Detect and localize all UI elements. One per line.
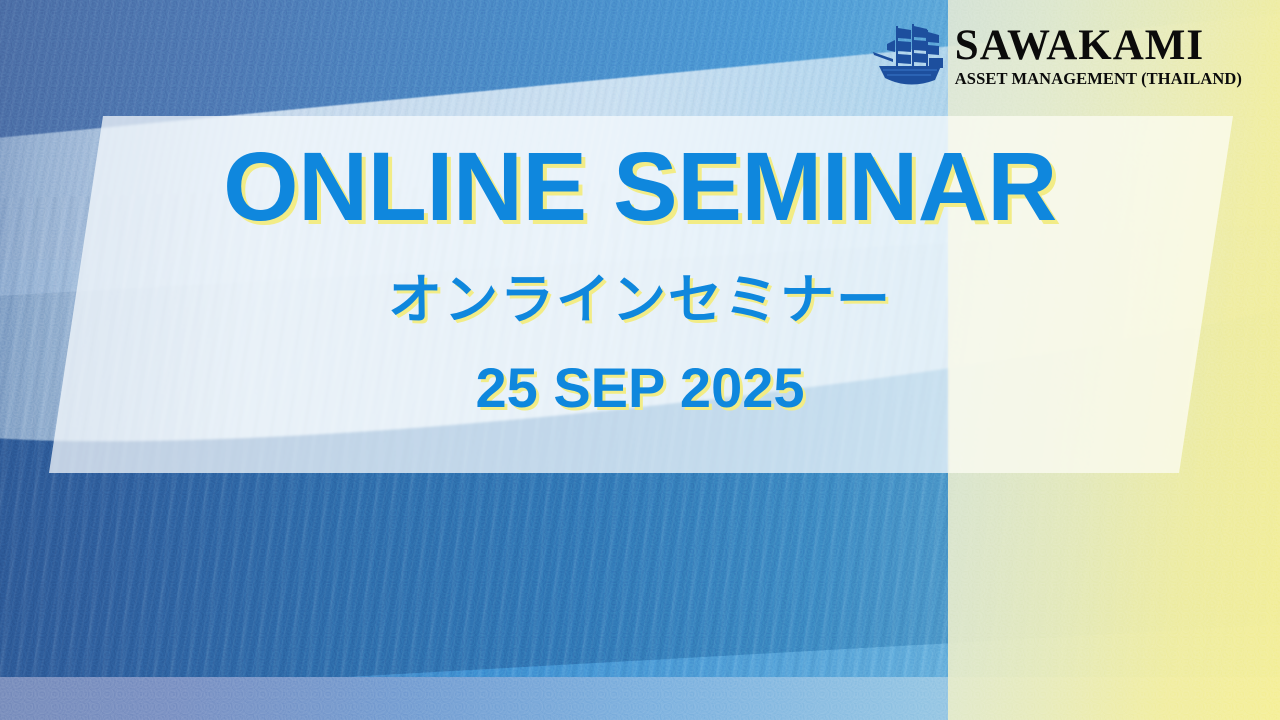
company-logo: SAWAKAMI ASSET MANAGEMENT (THAILAND) bbox=[871, 22, 1242, 92]
headline-title: ONLINE SEMINAR bbox=[223, 138, 1057, 235]
logo-wordmark: SAWAKAMI ASSET MANAGEMENT (THAILAND) bbox=[955, 25, 1242, 88]
headline-title-japanese: オンラインセミナー bbox=[388, 273, 892, 327]
logo-company-name: SAWAKAMI bbox=[955, 25, 1242, 67]
headline-block: ONLINE SEMINAR オンラインセミナー 25 SEP 2025 bbox=[0, 116, 1280, 473]
logo-company-subtitle: ASSET MANAGEMENT (THAILAND) bbox=[955, 70, 1242, 89]
seminar-banner: ONLINE SEMINAR オンラインセミナー 25 SEP 2025 bbox=[0, 0, 1280, 720]
seminar-date: 25 SEP 2025 bbox=[475, 360, 804, 416]
sailing-ship-icon bbox=[871, 22, 947, 92]
